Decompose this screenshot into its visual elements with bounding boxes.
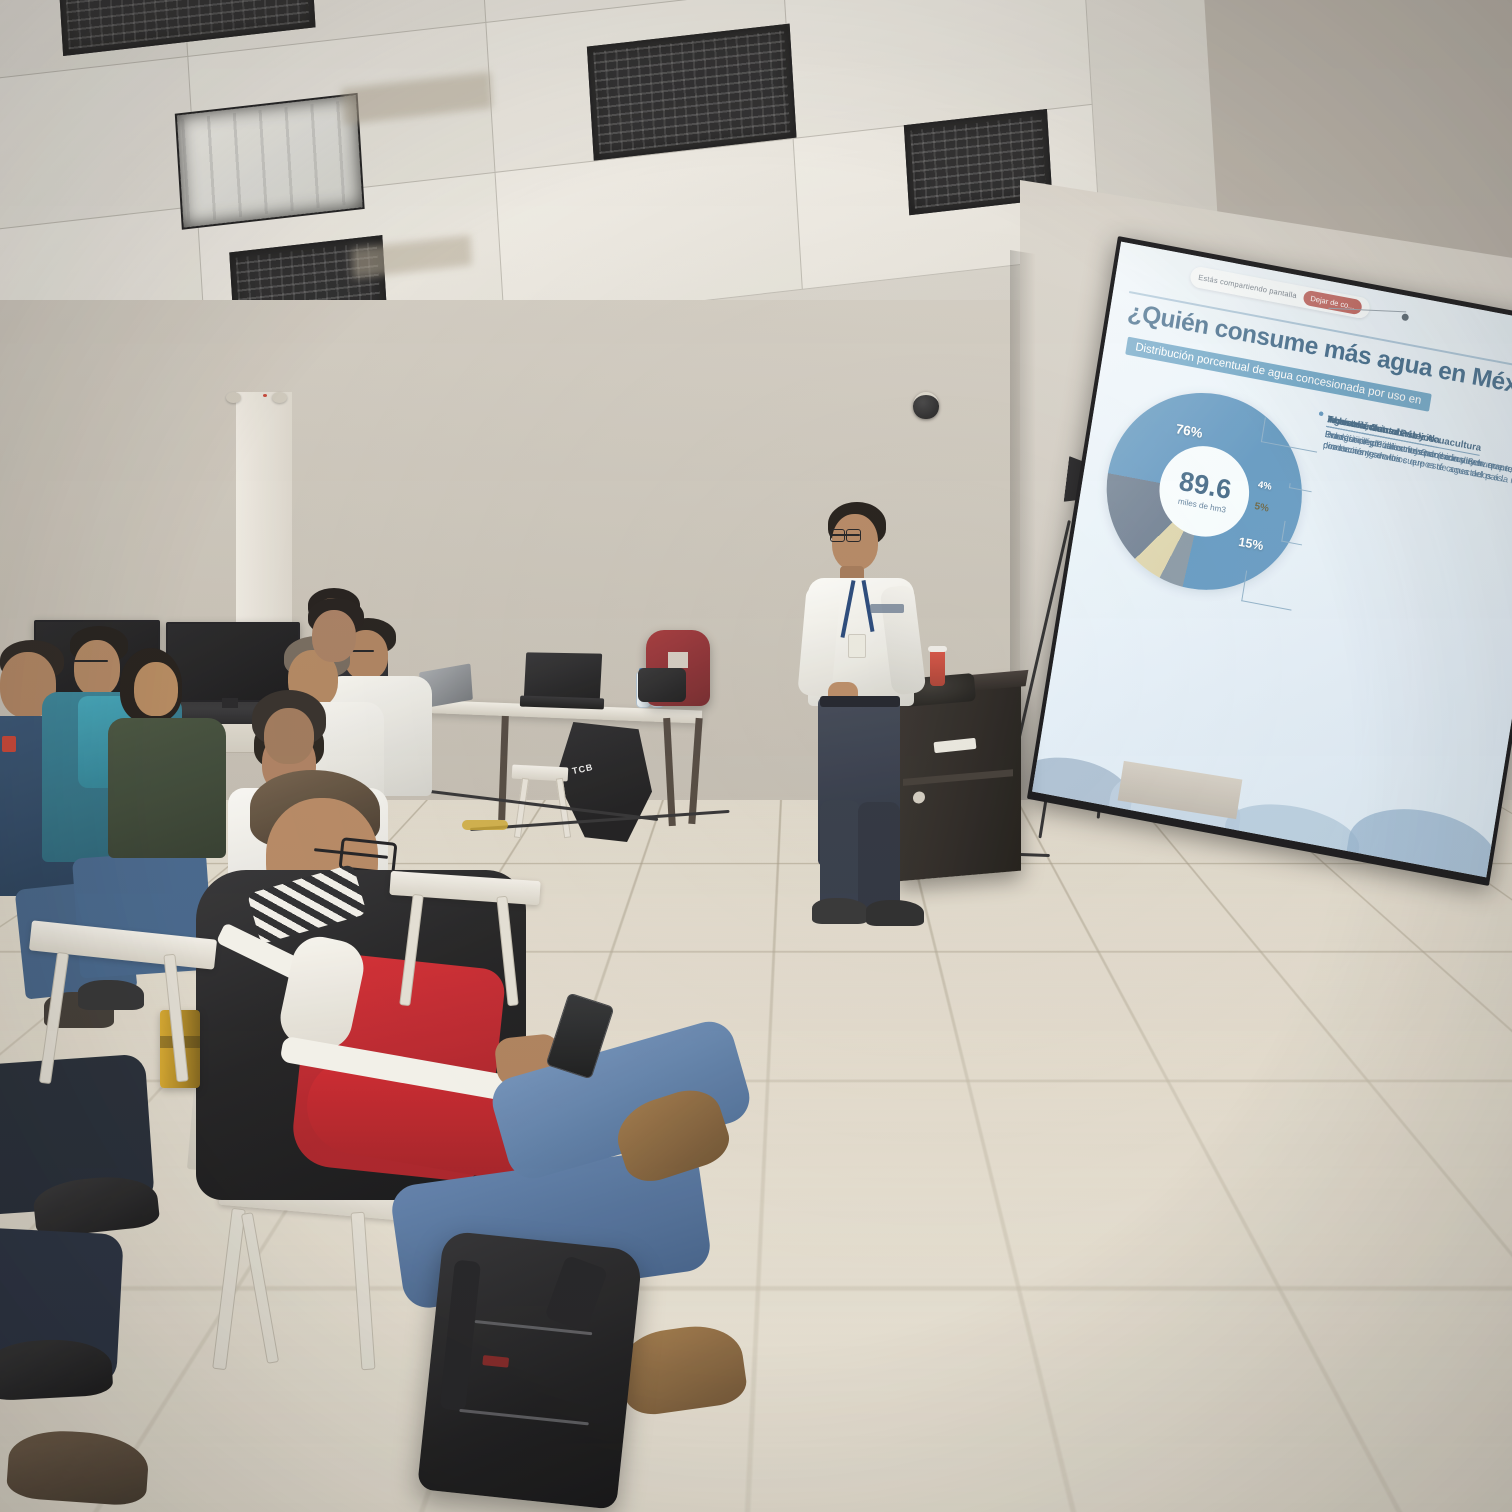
leader-line — [1281, 521, 1305, 546]
chart-legend: Agrícola, Ganadería y Acuacultura Produc… — [1329, 409, 1512, 455]
donut-chart: 89.6 miles de hm3 76% 4% 5% 15% — [1092, 376, 1316, 606]
stop-sharing-button[interactable]: Dejar de co... — [1302, 290, 1362, 316]
shirt-logo — [870, 604, 904, 613]
presenter-shoe — [866, 900, 924, 926]
glasses-lens — [830, 529, 845, 542]
black-bag — [638, 668, 686, 702]
id-badge — [848, 634, 866, 658]
belt — [820, 696, 900, 707]
legend-bullet-icon — [1319, 411, 1324, 416]
legend-item: Abastecimiento Público Doméstico y Públi… — [1322, 409, 1512, 497]
security-camera-icon — [913, 392, 939, 419]
ceiling-light-panel — [587, 24, 797, 161]
laptop-screen — [524, 652, 602, 699]
presenter-shoe — [812, 898, 868, 924]
ceiling-sensor — [272, 392, 287, 403]
uniform-patch — [2, 736, 16, 752]
presenter-leg — [820, 800, 860, 908]
presenter-leg — [858, 802, 900, 910]
ceiling-sensor — [226, 392, 241, 403]
sensor-led — [263, 394, 267, 397]
sharing-status-text: Estás compartiendo pantalla — [1198, 273, 1298, 300]
glasses-lens — [846, 529, 861, 542]
meeting-room-photo: Estás compartiendo pantalla Dejar de co.… — [0, 0, 1512, 1512]
floor-backpack — [417, 1230, 643, 1509]
presenter-head — [832, 514, 878, 570]
presenter — [800, 500, 950, 940]
slice-label-termoelectricas: 4% — [1257, 479, 1272, 492]
folding-chair — [390, 876, 570, 1076]
pointer-dot — [1401, 313, 1409, 321]
folding-chair — [30, 930, 230, 1160]
ceiling-light-panel — [175, 93, 365, 230]
